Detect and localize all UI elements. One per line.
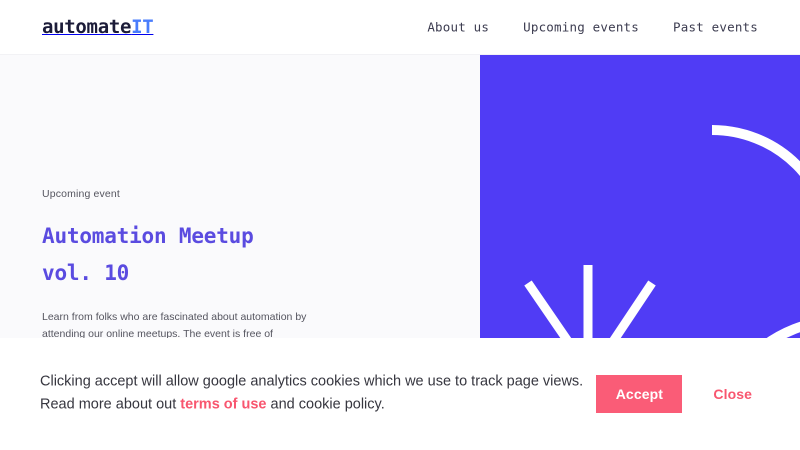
nav-item-past-events[interactable]: Past events (673, 20, 758, 35)
nav-item-about-us[interactable]: About us (427, 20, 489, 35)
logo-text-accent: IT (131, 16, 153, 38)
hero-title: Automation Meetup vol. 10 (42, 218, 362, 293)
terms-of-use-link[interactable]: terms of use (180, 397, 266, 413)
cookie-banner-line-2-prefix: Read more about out (40, 397, 180, 413)
logo-text-primary: automate (42, 16, 131, 38)
site-header: automateIT About us Upcoming events Past… (0, 0, 800, 55)
cookie-banner-line-1: Clicking accept will allow google analyt… (40, 374, 583, 390)
close-cookie-banner-button[interactable]: Close (707, 386, 758, 402)
cookie-banner-text: Clicking accept will allow google analyt… (40, 371, 585, 418)
cookie-banner-line-2-suffix: and cookie policy. (267, 397, 385, 413)
page-root: automateIT About us Upcoming events Past… (0, 0, 800, 450)
hero-copy: Upcoming event Automation Meetup vol. 10… (42, 188, 362, 360)
main-navigation: About us Upcoming events Past events (427, 20, 758, 35)
hero-eyebrow: Upcoming event (42, 188, 362, 200)
nav-item-upcoming-events[interactable]: Upcoming events (523, 20, 639, 35)
cookie-consent-banner: Clicking accept will allow google analyt… (0, 338, 800, 450)
accept-cookies-button[interactable]: Accept (596, 375, 682, 413)
cookie-banner-actions: Accept Close (596, 375, 758, 413)
site-logo[interactable]: automateIT (42, 16, 153, 38)
